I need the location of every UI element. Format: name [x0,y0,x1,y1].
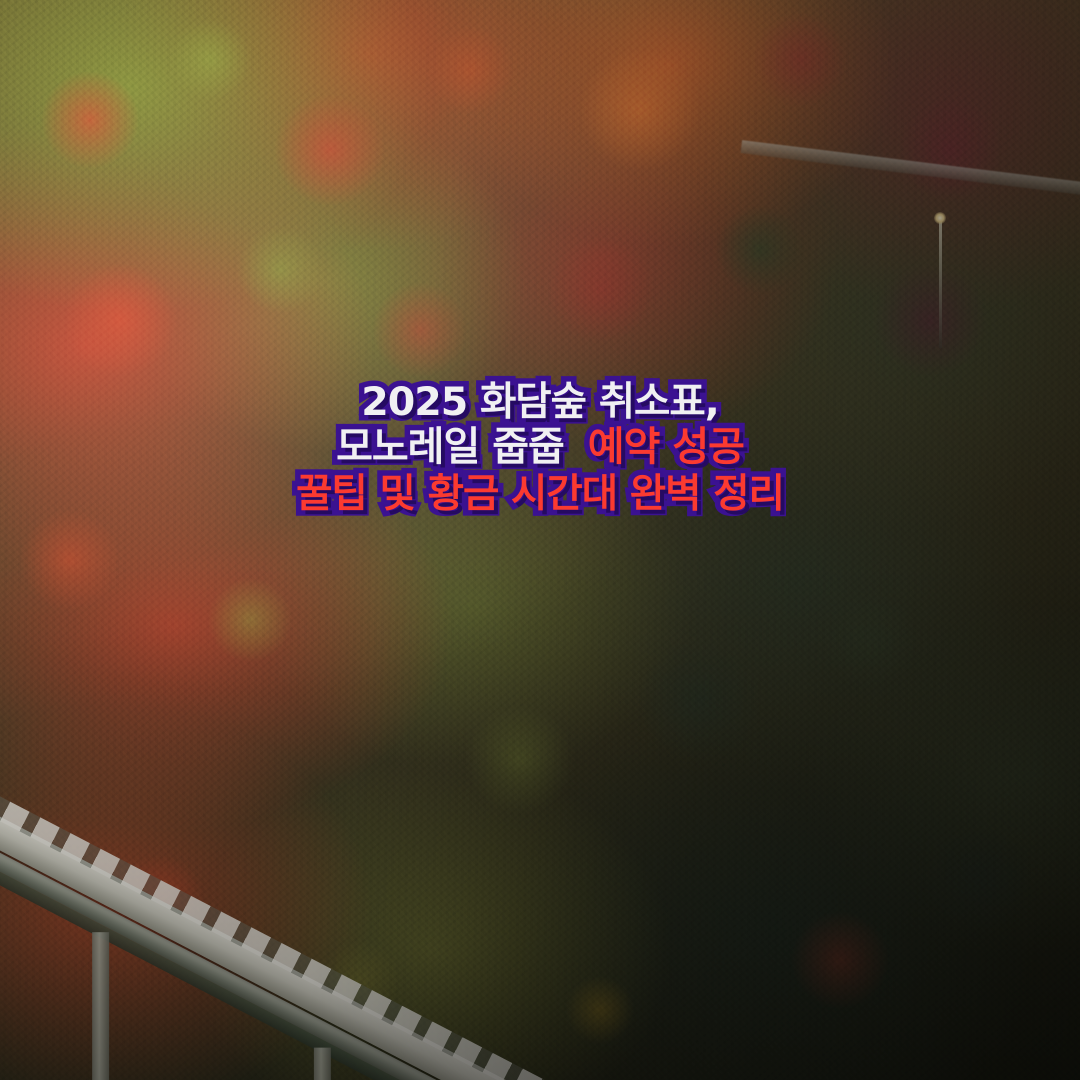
headline-line-2: 모노레일 줍줍예약 성공 [0,428,1080,467]
headline-line-2-segment-white: 모노레일 줍줍 [336,424,564,470]
monorail-viaduct [0,690,687,1080]
lamp-post [939,218,942,348]
headline-line-3-segment-red: 꿀팁 및 황금 시간대 완벽 정리 [296,471,784,517]
headline-block: 2025 화담숲 취소표, 모노레일 줍줍예약 성공 꿀팁 및 황금 시간대 완… [0,383,1080,514]
monorail-pier [92,932,109,1080]
headline-line-1: 2025 화담숲 취소표, [0,383,1080,422]
headline-line-2-segment-red: 예약 성공 [588,424,744,470]
monorail-pier [314,1048,331,1080]
headline-line-1-segment-white: 2025 화담숲 취소표, [361,379,719,425]
thumbnail-card: 2025 화담숲 취소표, 모노레일 줍줍예약 성공 꿀팁 및 황금 시간대 완… [0,0,1080,1080]
headline-line-3: 꿀팁 및 황금 시간대 완벽 정리 [0,475,1080,514]
hillside-walkway [741,140,1080,197]
lamp-light-icon [934,212,946,224]
